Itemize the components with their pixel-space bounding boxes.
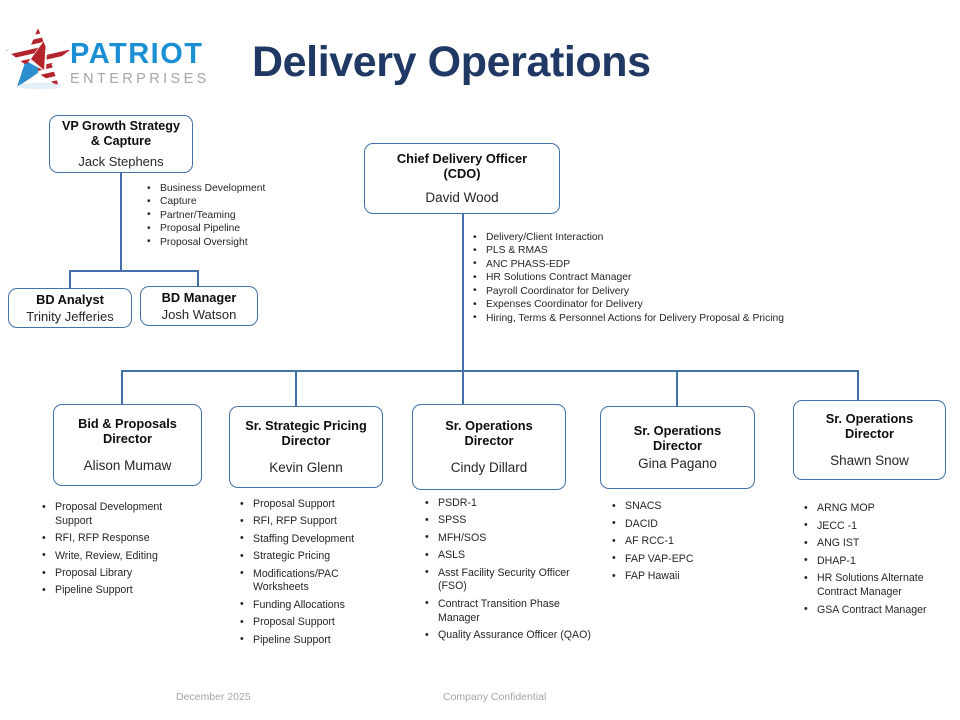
bullets-strategic-pricing: Proposal Support RFI, RFP Support Staffi… bbox=[239, 498, 391, 651]
node-ops-director-dillard[interactable]: Sr. Operations Director Cindy Dillard bbox=[412, 404, 566, 490]
patriot-star-logo-icon bbox=[4, 26, 72, 92]
node-ops-dillard-person: Cindy Dillard bbox=[451, 460, 528, 476]
bullet-item: Proposal Library bbox=[41, 567, 201, 581]
node-strategic-pricing-role-line1: Sr. Strategic Pricing bbox=[245, 418, 367, 433]
bullet-item: SPSS bbox=[424, 514, 600, 528]
bullet-item: Proposal Development Support bbox=[41, 501, 201, 529]
bullet-item: HR Solutions Contract Manager bbox=[472, 271, 802, 284]
slide-canvas: PATRIOT ENTERPRISES Delivery Operations … bbox=[0, 0, 960, 720]
footer-confidentiality: Company Confidential bbox=[443, 691, 546, 703]
bullet-item: Quality Assurance Officer (QAO) bbox=[424, 629, 600, 643]
bullets-ops-snow: ARNG MOP JECC -1 ANG IST DHAP-1 HR Solut… bbox=[803, 501, 953, 621]
bullet-item: Capture bbox=[146, 195, 336, 208]
bullet-item: Proposal Support bbox=[239, 498, 391, 512]
node-strategic-pricing-director[interactable]: Sr. Strategic Pricing Director Kevin Gle… bbox=[229, 406, 383, 488]
page-title: Delivery Operations bbox=[252, 38, 651, 87]
connector-vp-bus bbox=[69, 270, 199, 272]
brand-wordmark: PATRIOT ENTERPRISES bbox=[70, 40, 210, 87]
node-ops-dillard-role-line2: Director bbox=[464, 433, 513, 448]
bullet-item: RFI, RFP Support bbox=[239, 515, 391, 529]
node-ops-snow-role-line1: Sr. Operations bbox=[826, 411, 913, 426]
connector-bid-proposals-drop bbox=[121, 370, 123, 404]
bullets-cdo: Delivery/Client Interaction PLS & RMAS A… bbox=[472, 231, 802, 325]
node-bd-analyst-person: Trinity Jefferies bbox=[26, 309, 113, 324]
bullet-item: Staffing Development bbox=[239, 533, 391, 547]
bullet-item: FAP Hawaii bbox=[611, 569, 771, 583]
bullet-item: ARNG MOP bbox=[803, 501, 953, 515]
node-ops-dillard-role-line1: Sr. Operations bbox=[445, 418, 532, 433]
brand-name: PATRIOT bbox=[70, 40, 210, 69]
connector-strategic-pricing-drop bbox=[295, 370, 297, 406]
bullet-item: PLS & RMAS bbox=[472, 244, 802, 257]
connector-vp-stem bbox=[120, 172, 122, 271]
node-bd-analyst[interactable]: BD Analyst Trinity Jefferies bbox=[8, 288, 132, 328]
node-strategic-pricing-role-line2: Director bbox=[281, 433, 330, 448]
bullet-item: Write, Review, Editing bbox=[41, 550, 201, 564]
bullet-item: Delivery/Client Interaction bbox=[472, 231, 802, 244]
node-cdo-role-line1: Chief Delivery Officer bbox=[397, 151, 527, 166]
node-bd-manager-role: BD Manager bbox=[162, 290, 237, 305]
connector-ops-snow-drop bbox=[857, 370, 859, 400]
bullet-item: RFI, RFP Response bbox=[41, 532, 201, 546]
bullet-item: Proposal Pipeline bbox=[146, 222, 336, 235]
node-ops-pagano-role-line1: Sr. Operations bbox=[634, 423, 721, 438]
brand-tagline: ENTERPRISES bbox=[70, 72, 210, 87]
node-ops-snow-role-line2: Director bbox=[845, 426, 894, 441]
node-bid-proposals-role-line2: Director bbox=[103, 431, 152, 446]
node-bd-manager-person: Josh Watson bbox=[162, 307, 237, 322]
bullet-item: Proposal Oversight bbox=[146, 236, 336, 249]
connector-ops-pagano-drop bbox=[676, 370, 678, 406]
node-ops-director-pagano[interactable]: Sr. Operations Director Gina Pagano bbox=[600, 406, 755, 489]
bullet-item: Business Development bbox=[146, 182, 336, 195]
bullet-item: Pipeline Support bbox=[41, 584, 201, 598]
connector-bd-manager-drop bbox=[197, 270, 199, 286]
bullet-item: FAP VAP-EPC bbox=[611, 552, 771, 566]
node-vp-growth-role-line1: VP Growth Strategy bbox=[62, 119, 180, 133]
node-ops-pagano-role-line2: Director bbox=[653, 438, 702, 453]
bullets-ops-dillard: PSDR-1 SPSS MFH/SOS ASLS Asst Facility S… bbox=[424, 497, 600, 646]
bullet-item: ANG IST bbox=[803, 536, 953, 550]
node-bid-proposals-director[interactable]: Bid & Proposals Director Alison Mumaw bbox=[53, 404, 202, 486]
bullet-item: Contract Transition Phase Manager bbox=[424, 598, 600, 626]
node-vp-growth-strategy[interactable]: VP Growth Strategy & Capture Jack Stephe… bbox=[49, 115, 193, 173]
bullet-item: Funding Allocations bbox=[239, 599, 391, 613]
bullet-item: SNACS bbox=[611, 499, 771, 513]
node-vp-growth-role-line2: & Capture bbox=[91, 134, 151, 148]
bullet-item: Hiring, Terms & Personnel Actions for De… bbox=[472, 312, 802, 325]
bullets-bid-proposals: Proposal Development Support RFI, RFP Re… bbox=[41, 501, 201, 602]
bullet-item: Payroll Coordinator for Delivery bbox=[472, 285, 802, 298]
node-cdo-role-line2: (CDO) bbox=[444, 166, 481, 181]
footer-date: December 2025 bbox=[176, 691, 251, 703]
bullet-item: Asst Facility Security Officer (FSO) bbox=[424, 567, 600, 595]
node-ops-director-snow[interactable]: Sr. Operations Director Shawn Snow bbox=[793, 400, 946, 480]
bullet-item: DACID bbox=[611, 517, 771, 531]
bullet-item: JECC -1 bbox=[803, 519, 953, 533]
bullets-vp-growth: Business Development Capture Partner/Tea… bbox=[146, 182, 336, 249]
bullet-item: HR Solutions Alternate Contract Manager bbox=[803, 571, 953, 599]
node-ops-pagano-person: Gina Pagano bbox=[638, 456, 717, 472]
bullet-item: GSA Contract Manager bbox=[803, 603, 953, 617]
node-cdo-person: David Wood bbox=[425, 190, 498, 206]
bullet-item: Strategic Pricing bbox=[239, 550, 391, 564]
connector-cdo-stem bbox=[462, 214, 464, 371]
node-bid-proposals-role-line1: Bid & Proposals bbox=[78, 416, 177, 431]
bullet-item: Modifications/PAC Worksheets bbox=[239, 568, 391, 596]
bullet-item: Expenses Coordinator for Delivery bbox=[472, 298, 802, 311]
node-vp-growth-person: Jack Stephens bbox=[78, 154, 163, 169]
bullet-item: DHAP-1 bbox=[803, 554, 953, 568]
bullet-item: Pipeline Support bbox=[239, 634, 391, 648]
node-bd-manager[interactable]: BD Manager Josh Watson bbox=[140, 286, 258, 326]
bullet-item: PSDR-1 bbox=[424, 497, 600, 511]
connector-bd-analyst-drop bbox=[69, 270, 71, 289]
connector-ops-dillard-drop bbox=[462, 370, 464, 404]
bullet-item: ANC PHASS-EDP bbox=[472, 258, 802, 271]
bullet-item: ASLS bbox=[424, 549, 600, 563]
bullet-item: AF RCC-1 bbox=[611, 534, 771, 548]
node-ops-snow-person: Shawn Snow bbox=[830, 453, 909, 469]
bullet-item: Partner/Teaming bbox=[146, 209, 336, 222]
bullets-ops-pagano: SNACS DACID AF RCC-1 FAP VAP-EPC FAP Haw… bbox=[611, 499, 771, 587]
node-chief-delivery-officer[interactable]: Chief Delivery Officer (CDO) David Wood bbox=[364, 143, 560, 214]
bullet-item: Proposal Support bbox=[239, 616, 391, 630]
node-strategic-pricing-person: Kevin Glenn bbox=[269, 460, 343, 476]
node-bid-proposals-person: Alison Mumaw bbox=[84, 458, 172, 474]
node-bd-analyst-role: BD Analyst bbox=[36, 292, 104, 307]
connector-directors-bus bbox=[121, 370, 859, 372]
bullet-item: MFH/SOS bbox=[424, 532, 600, 546]
